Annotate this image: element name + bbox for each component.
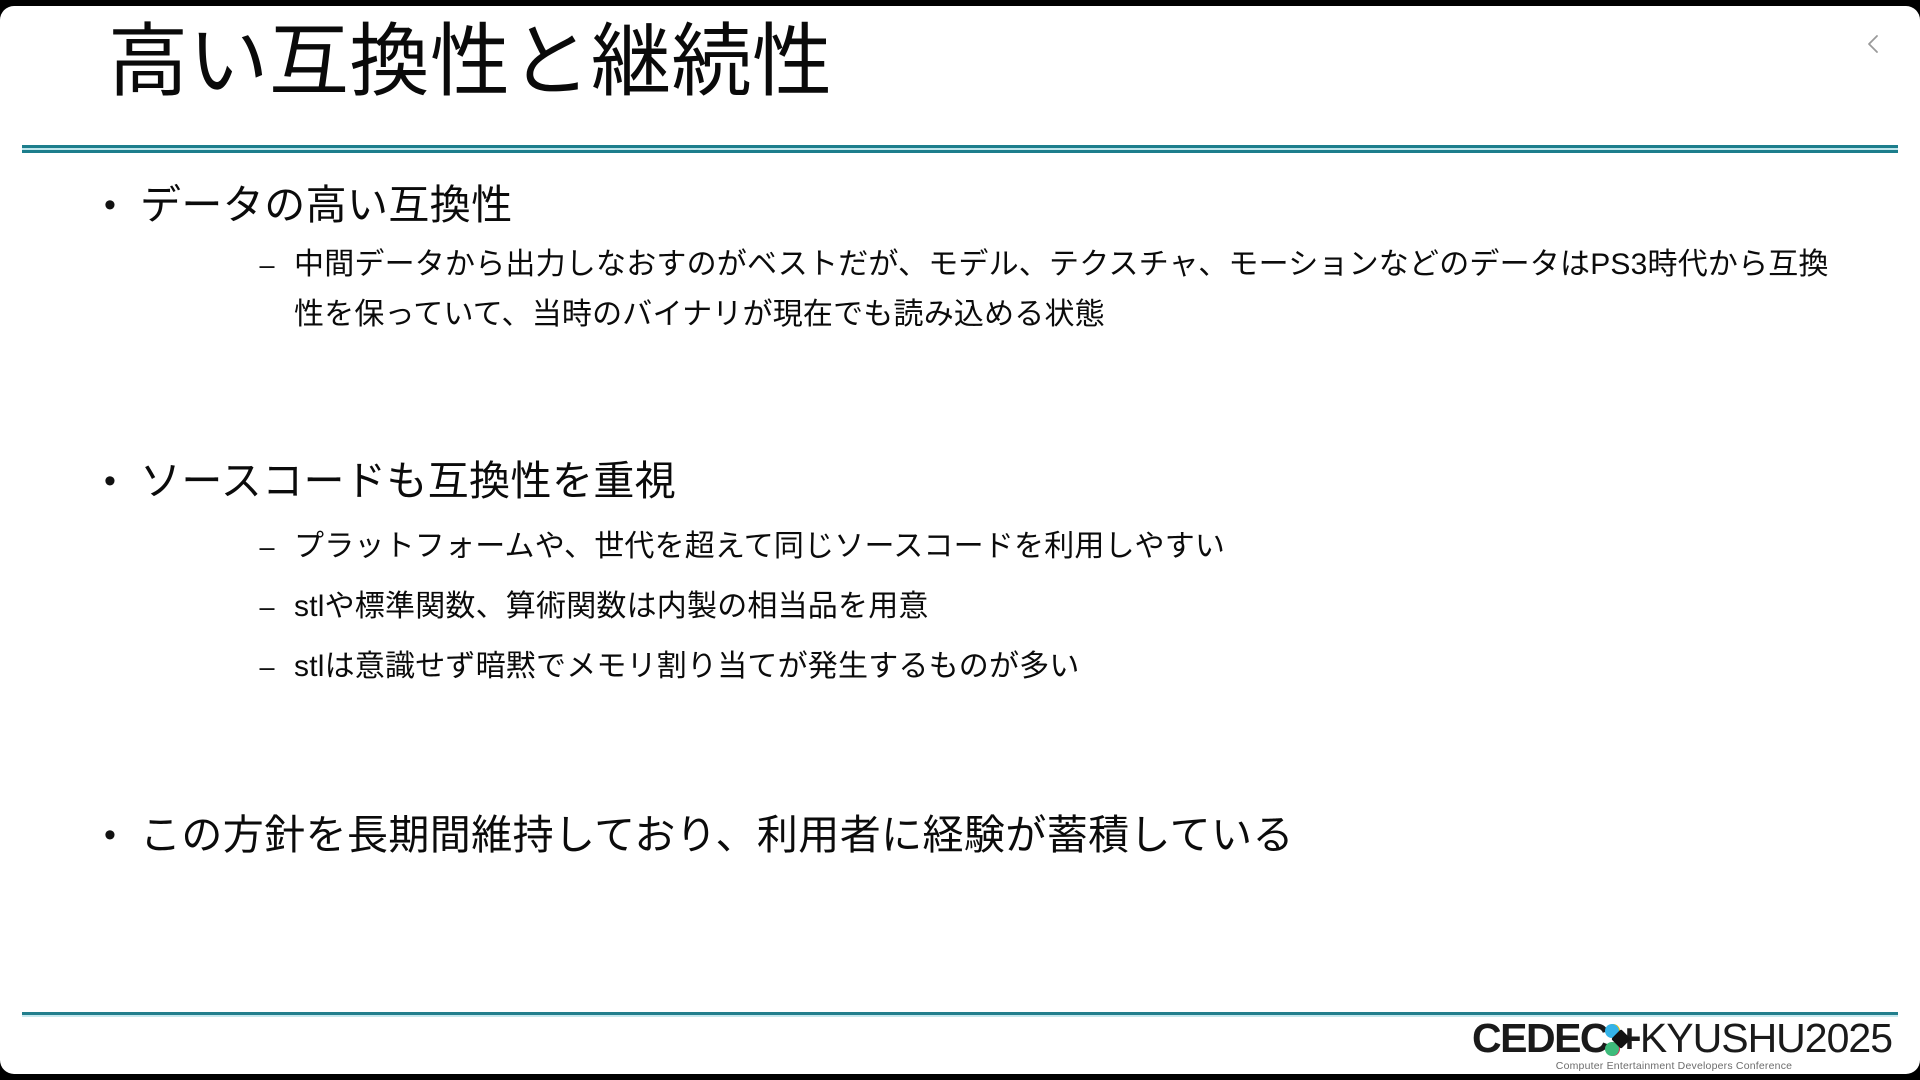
bullet-item: • データの高い互換性 (80, 174, 1854, 236)
bullet-group-1: • データの高い互換性 – 中間データから出力しなおすのがベストだが、モデル、テ… (80, 174, 1854, 340)
slide-canvas: 高い互換性と継続性 • データの高い互換性 – 中間データから出力しなおすのがベ… (0, 6, 1920, 1074)
logo-x-icon (1606, 1024, 1619, 1056)
logo-cedec-text: CEDEC (1472, 1016, 1608, 1060)
bullet-item: • ソースコードも互換性を重視 (80, 450, 1225, 512)
bullet-group-3: • この方針を長期間維持しており、利用者に経験が蓄積している (80, 804, 1294, 866)
sub-bullet-text: stlは意識せず暗黙でメモリ割り当てが発生するものが多い (294, 642, 1080, 692)
bullet-text: データの高い互換性 (140, 174, 513, 236)
bullet-text: ソースコードも互換性を重視 (140, 450, 676, 512)
bullet-marker: • (80, 804, 140, 866)
bullet-item: • この方針を長期間維持しており、利用者に経験が蓄積している (80, 804, 1294, 866)
bullet-marker: • (80, 450, 140, 512)
logo-wordmark: CEDEC+KYUSHU2025 (1472, 1016, 1892, 1060)
bullet-marker: • (80, 174, 140, 236)
slide-header: 高い互換性と継続性 (0, 6, 1920, 171)
sub-bullet-marker: – (240, 582, 294, 632)
cedec-kyushu-logo: CEDEC+KYUSHU2025 Computer Entertainment … (1472, 1016, 1892, 1072)
back-arrow-button[interactable] (1854, 24, 1894, 64)
sub-bullet-marker: – (240, 522, 294, 572)
sub-bullet-item: – stlや標準関数、算術関数は内製の相当品を用意 (80, 582, 1225, 632)
sub-bullet-item: – stlは意識せず暗黙でメモリ割り当てが発生するものが多い (80, 642, 1225, 692)
page-title: 高い互換性と継続性 (108, 22, 833, 102)
sub-bullet-marker: – (240, 240, 294, 290)
sub-bullet-text: プラットフォームや、世代を超えて同じソースコードを利用しやすい (294, 522, 1225, 572)
sub-bullet-marker: – (240, 642, 294, 692)
bullet-group-2: • ソースコードも互換性を重視 – プラットフォームや、世代を超えて同じソースコ… (80, 450, 1225, 702)
logo-subtitle: Computer Entertainment Developers Confer… (1472, 1060, 1892, 1072)
sub-bullet-item: – 中間データから出力しなおすのがベストだが、モデル、テクスチャ、モーションなど… (80, 240, 1854, 340)
presentation-viewer: 高い互換性と継続性 • データの高い互換性 – 中間データから出力しなおすのがベ… (0, 0, 1920, 1080)
sub-bullet-item: – プラットフォームや、世代を超えて同じソースコードを利用しやすい (80, 522, 1225, 572)
left-arrow-icon (1861, 31, 1887, 57)
sub-bullet-text: 中間データから出力しなおすのがベストだが、モデル、テクスチャ、モーションなどのデ… (294, 240, 1854, 340)
bullet-text: この方針を長期間維持しており、利用者に経験が蓄積している (140, 804, 1294, 866)
sub-bullet-text: stlや標準関数、算術関数は内製の相当品を用意 (294, 582, 929, 632)
slide-body: • データの高い互換性 – 中間データから出力しなおすのがベストだが、モデル、テ… (0, 174, 1920, 1014)
title-divider (22, 145, 1898, 154)
title-divider-line-bottom (22, 150, 1898, 153)
logo-kyushu-text: KYUSHU2025 (1640, 1016, 1892, 1060)
